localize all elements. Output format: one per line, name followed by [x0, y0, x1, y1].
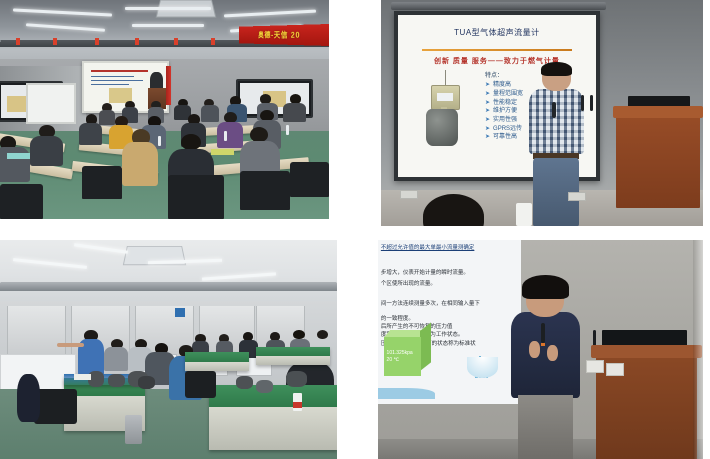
- attendee-body: [283, 103, 306, 122]
- projected-slide: 不超过允许值的最大单最小流量测确定 步增大，仪表开始计量的瞬时流量。 个区使所出…: [378, 240, 521, 404]
- office-chair: [290, 162, 329, 197]
- photo-lecturer-slide: 不超过允许值的最大单最小流量测确定 步增大，仪表开始计量的瞬时流量。 个区使所出…: [378, 240, 703, 459]
- workbench: [209, 385, 337, 451]
- office-chair: [168, 175, 224, 219]
- bullet-label: 实用性强: [493, 116, 517, 125]
- presenter-plaid-shirt: [529, 89, 584, 154]
- bullet-label: 可靠性高: [493, 133, 517, 142]
- arrow-bullet-icon: ➤: [485, 107, 490, 116]
- bottle-label: [293, 402, 301, 407]
- flowmeter-part: [108, 374, 125, 387]
- office-chair: [34, 389, 78, 424]
- handheld-microphone-icon: [541, 323, 545, 343]
- wall-corner-edge: [693, 240, 703, 459]
- lecturer-hair: [522, 275, 568, 299]
- lecturer-shirt: [511, 312, 579, 398]
- slide-line: 间一方法连续测量多次，在相同输入量下: [381, 299, 480, 307]
- standard-condition-cube: 101.325kpa 20 ℃: [384, 330, 431, 376]
- bullet-label: 维护方便: [493, 107, 517, 116]
- lecturer-hand: [547, 345, 558, 362]
- arrow-bullet-icon: ➤: [485, 81, 490, 90]
- flowmeter-graphic: [422, 80, 474, 148]
- lecturer-trousers: [518, 395, 573, 459]
- presenter: [529, 63, 584, 226]
- cube-labels: 101.325kpa 20 ℃: [387, 350, 413, 365]
- event-banner: 奥德-天信 20: [239, 24, 329, 46]
- workbench: [256, 347, 330, 365]
- cable-clip: [135, 38, 139, 45]
- overhead-service-rail: [0, 282, 337, 291]
- cube-label-pressure: 101.325kpa: [387, 350, 413, 358]
- instructor-arm: [57, 343, 84, 347]
- lecturer: [511, 275, 579, 459]
- bullet-label: 精度高: [493, 81, 511, 90]
- wall-socket-icon: [400, 190, 418, 199]
- flowmeter-part: [236, 376, 253, 389]
- water-bottle: [286, 125, 289, 135]
- white-box: [606, 363, 624, 376]
- workbench: [185, 352, 249, 372]
- cube-label-temperature: 20 ℃: [387, 357, 413, 365]
- red-column: [166, 66, 171, 105]
- podium-top: [591, 345, 702, 358]
- attendee-body: [122, 142, 158, 186]
- attendee-body: [30, 136, 63, 167]
- wooden-podium: [616, 106, 700, 208]
- arrow-bullet-icon: ➤: [485, 133, 490, 142]
- attendee-body: [79, 123, 102, 145]
- slide-line: 个区使所出现的流量。: [381, 279, 436, 287]
- attendee-head: [250, 127, 268, 142]
- water-graphic: [378, 388, 435, 399]
- window-blind: [7, 306, 66, 359]
- cable-clip: [16, 38, 20, 45]
- event-banner-text: 奥德-天信 20: [258, 29, 300, 41]
- whiteboard: [26, 83, 76, 124]
- flowmeter-part: [256, 380, 273, 393]
- cable-clip: [211, 38, 215, 45]
- slide-line: 的一致程度。: [381, 314, 414, 322]
- slide-line: 步增大，仪表开始计量的瞬时流量。: [381, 268, 469, 276]
- bowl-graphic: [467, 342, 498, 378]
- arrow-bullet-icon: ➤: [485, 90, 490, 99]
- water-jug: [516, 203, 532, 226]
- office-chair: [0, 184, 43, 219]
- bullet-label: 量程范围宽: [493, 90, 523, 99]
- microphone-band: [541, 343, 545, 346]
- photo-workshop: [0, 240, 337, 459]
- bullet-label: GPRS远传: [493, 125, 522, 134]
- attendee-body: [104, 347, 128, 371]
- water-bottle: [224, 131, 227, 141]
- attendee-body: [217, 122, 243, 148]
- office-chair: [185, 371, 215, 397]
- presenter-hair: [541, 62, 573, 77]
- ceiling-light-strip: [125, 7, 211, 10]
- photo-speaker-slide: TUA型气体超声流量计 创新 质量 服务——致力于燃气计量 特点： ➤精度高 ➤…: [381, 0, 703, 226]
- podium-top: [613, 106, 703, 118]
- attendee-head: [293, 330, 304, 340]
- paper-sheet: [7, 153, 30, 158]
- slide-line: 后所产生的不可恢复的压力值: [381, 322, 453, 330]
- bullet-label: 性能稳定: [493, 99, 517, 108]
- cable-clip: [95, 38, 99, 45]
- paper-stack: [74, 374, 91, 381]
- office-chair: [82, 166, 121, 199]
- hanging-coat: [17, 374, 41, 422]
- slide-heading: 不超过允许值的最大单最小流量测确定: [381, 243, 475, 251]
- arrow-bullet-icon: ➤: [485, 116, 490, 125]
- arrow-bullet-icon: ➤: [485, 125, 490, 134]
- arrow-bullet-icon: ➤: [485, 99, 490, 108]
- cable-clip: [53, 38, 57, 45]
- wall-socket-icon: [568, 192, 586, 201]
- attendee-body: [99, 110, 115, 125]
- office-chair: [240, 171, 289, 210]
- screen-roller-rail: [391, 2, 607, 10]
- flowmeter-part: [286, 371, 306, 386]
- white-box: [586, 360, 604, 373]
- photo-collage-page: 奥德-天信 20: [0, 0, 710, 459]
- slide-divider: [422, 49, 573, 51]
- flowmeter-part: [138, 376, 155, 389]
- lecturer-hand: [529, 341, 540, 358]
- photo-classroom: 奥德-天信 20: [0, 0, 329, 219]
- attendee-body: [0, 147, 30, 182]
- slide-title: TUA型气体超声流量计: [398, 27, 596, 38]
- ceiling-light-strip: [132, 24, 204, 27]
- attendee-head: [181, 134, 201, 151]
- attendee-body: [201, 105, 219, 121]
- waste-bin: [125, 415, 142, 443]
- water-bottle: [158, 136, 161, 146]
- cable-clip: [174, 38, 178, 45]
- wall-sign-icon: [175, 308, 185, 317]
- paper-sheet: [211, 149, 234, 156]
- handheld-microphone-icon: [552, 102, 556, 118]
